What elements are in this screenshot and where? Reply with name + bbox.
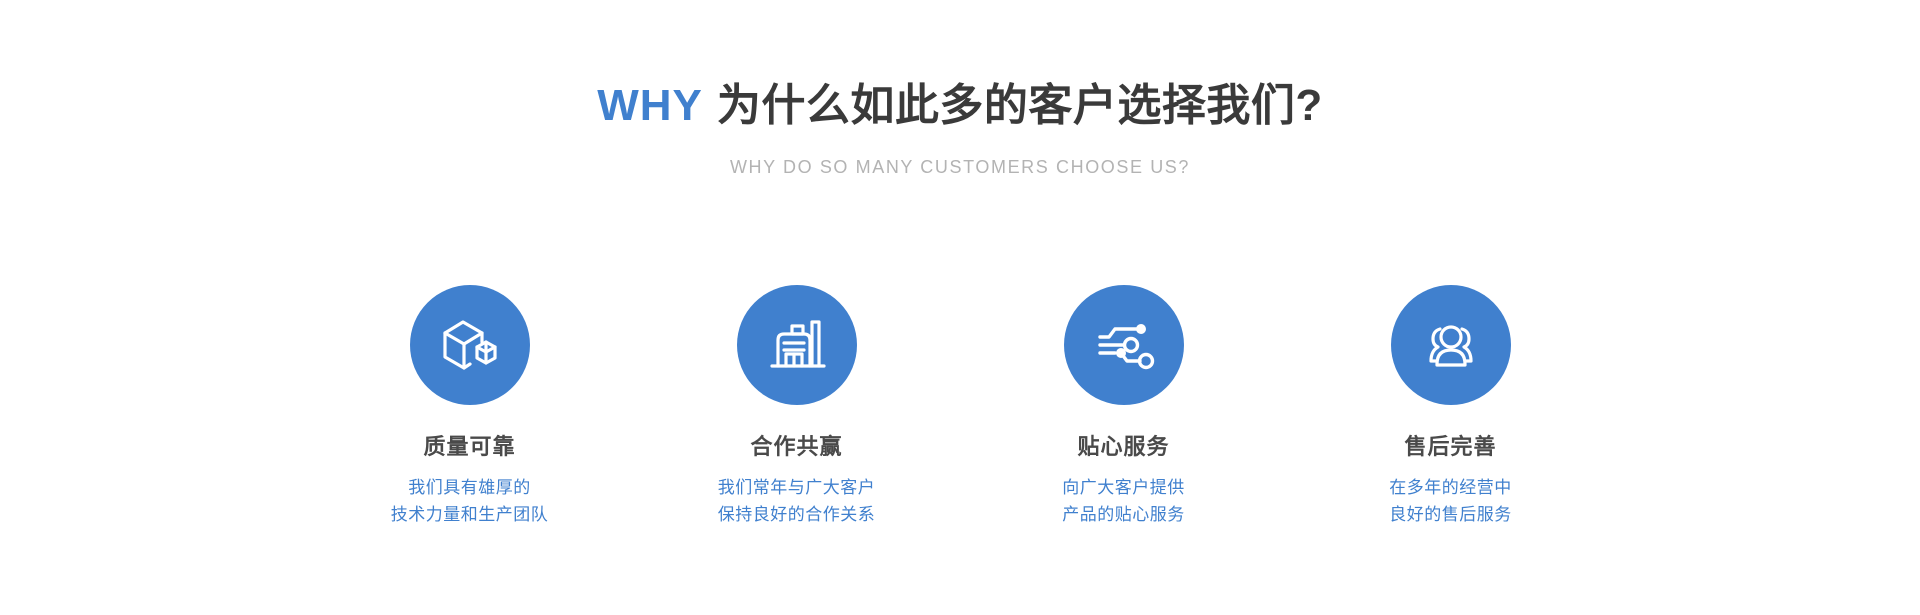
feature-desc-line: 产品的贴心服务	[1062, 501, 1185, 528]
feature-title-aftersales: 售后完善	[1404, 434, 1496, 460]
icon-circle-cooperation[interactable]	[737, 285, 857, 405]
feature-item-quality[interactable]: 质量可靠 我们具有雄厚的 技术力量和生产团队	[306, 285, 633, 528]
feature-desc-cooperation: 我们常年与广大客户 保持良好的合作关系	[718, 474, 876, 528]
icon-circle-quality[interactable]	[410, 285, 530, 405]
page-title: WHY为什么如此多的客户选择我们?	[0, 78, 1920, 134]
feature-desc-line: 在多年的经营中	[1389, 474, 1512, 501]
why-choose-us-section: WHY为什么如此多的客户选择我们? WHY DO SO MANY CUSTOME…	[0, 0, 1920, 615]
package-box-icon	[437, 312, 503, 378]
feature-desc-line: 保持良好的合作关系	[718, 501, 876, 528]
feature-desc-service: 向广大客户提供 产品的贴心服务	[1062, 474, 1185, 528]
feature-item-cooperation[interactable]: 合作共赢 我们常年与广大客户 保持良好的合作关系	[633, 285, 960, 528]
feature-title-service: 贴心服务	[1077, 434, 1169, 460]
circuit-nodes-icon	[1091, 312, 1157, 378]
page-subtitle: WHY DO SO MANY CUSTOMERS CHOOSE US?	[0, 156, 1920, 178]
feature-desc-line: 技术力量和生产团队	[391, 501, 549, 528]
title-accent-word: WHY	[597, 81, 703, 130]
feature-desc-line: 我们常年与广大客户	[718, 474, 876, 501]
icon-circle-service[interactable]	[1064, 285, 1184, 405]
users-group-icon	[1418, 312, 1484, 378]
feature-desc-quality: 我们具有雄厚的 技术力量和生产团队	[391, 474, 549, 528]
feature-desc-line: 我们具有雄厚的	[391, 474, 549, 501]
feature-title-cooperation: 合作共赢	[750, 434, 842, 460]
feature-item-aftersales[interactable]: 售后完善 在多年的经营中 良好的售后服务	[1287, 285, 1614, 528]
feature-desc-aftersales: 在多年的经营中 良好的售后服务	[1389, 474, 1512, 528]
factory-icon	[764, 312, 830, 378]
feature-title-quality: 质量可靠	[423, 434, 515, 460]
feature-desc-line: 向广大客户提供	[1062, 474, 1185, 501]
section-heading-block: WHY为什么如此多的客户选择我们? WHY DO SO MANY CUSTOME…	[0, 78, 1920, 178]
icon-circle-aftersales[interactable]	[1391, 285, 1511, 405]
features-row: 质量可靠 我们具有雄厚的 技术力量和生产团队	[306, 285, 1614, 528]
title-chinese-text: 为什么如此多的客户选择我们?	[717, 81, 1323, 130]
feature-desc-line: 良好的售后服务	[1389, 501, 1512, 528]
feature-item-service[interactable]: 贴心服务 向广大客户提供 产品的贴心服务	[960, 285, 1287, 528]
